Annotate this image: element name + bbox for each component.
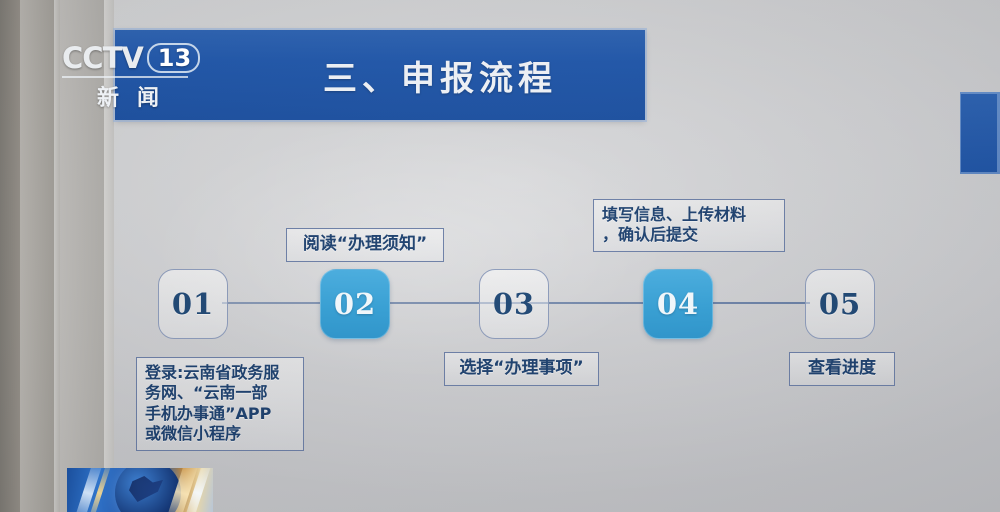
flow-step-05-number: 05 — [819, 287, 861, 321]
flow-step-02: 02 — [320, 269, 390, 339]
cctv-channel-number: 13 — [147, 43, 200, 73]
flow-callout-04: 填写信息、上传材料 ，确认后提交 — [593, 199, 785, 252]
flow-step-02-number: 02 — [334, 287, 376, 321]
flow-callout-03: 选择“办理事项” — [444, 352, 599, 386]
cctv-subtitle: 新 闻 — [62, 80, 194, 112]
news-program-graphic — [67, 468, 213, 512]
flow-callout-02-line-1: 阅读“办理须知” — [295, 234, 435, 256]
flow-callout-01-line-3: 手机办事通”APP — [145, 404, 295, 424]
flow-callout-05: 查看进度 — [789, 352, 895, 386]
cctv-wordmark: CCTV — [62, 41, 143, 75]
flow-step-04-number: 04 — [657, 287, 699, 321]
cctv-logo-row: CCTV 13 — [62, 41, 194, 75]
cctv-logo-rule — [62, 76, 188, 78]
cctv-subtitle-char-1: 新 — [97, 80, 119, 112]
tv-broadcast-frame: 三、申报流程 CCTV 13 新 闻 01 02 03 04 05 — [0, 0, 1000, 512]
cctv13-channel-logo: CCTV 13 新 闻 — [62, 41, 194, 103]
flow-callout-04-line-2: ，确认后提交 — [602, 225, 776, 245]
flow-callout-05-line-1: 查看进度 — [798, 358, 886, 380]
flow-step-01-number: 01 — [172, 287, 214, 321]
flow-step-03: 03 — [479, 269, 549, 339]
flow-callout-01-line-2: 务网、“云南一部 — [145, 383, 295, 403]
flow-callout-03-line-1: 选择“办理事项” — [453, 358, 590, 380]
flow-step-03-number: 03 — [493, 287, 535, 321]
flow-callout-02: 阅读“办理须知” — [286, 228, 444, 262]
flow-callout-01-line-4: 或微信小程序 — [145, 424, 295, 444]
flow-callout-01: 登录:云南省政务服 务网、“云南一部 手机办事通”APP 或微信小程序 — [136, 357, 304, 451]
cctv-subtitle-char-2: 闻 — [137, 80, 159, 112]
flow-callout-04-line-1: 填写信息、上传材料 — [602, 205, 776, 225]
flow-step-01: 01 — [158, 269, 228, 339]
flow-step-05: 05 — [805, 269, 875, 339]
flow-callout-01-line-1: 登录:云南省政务服 — [145, 363, 295, 383]
flow-step-04: 04 — [643, 269, 713, 339]
